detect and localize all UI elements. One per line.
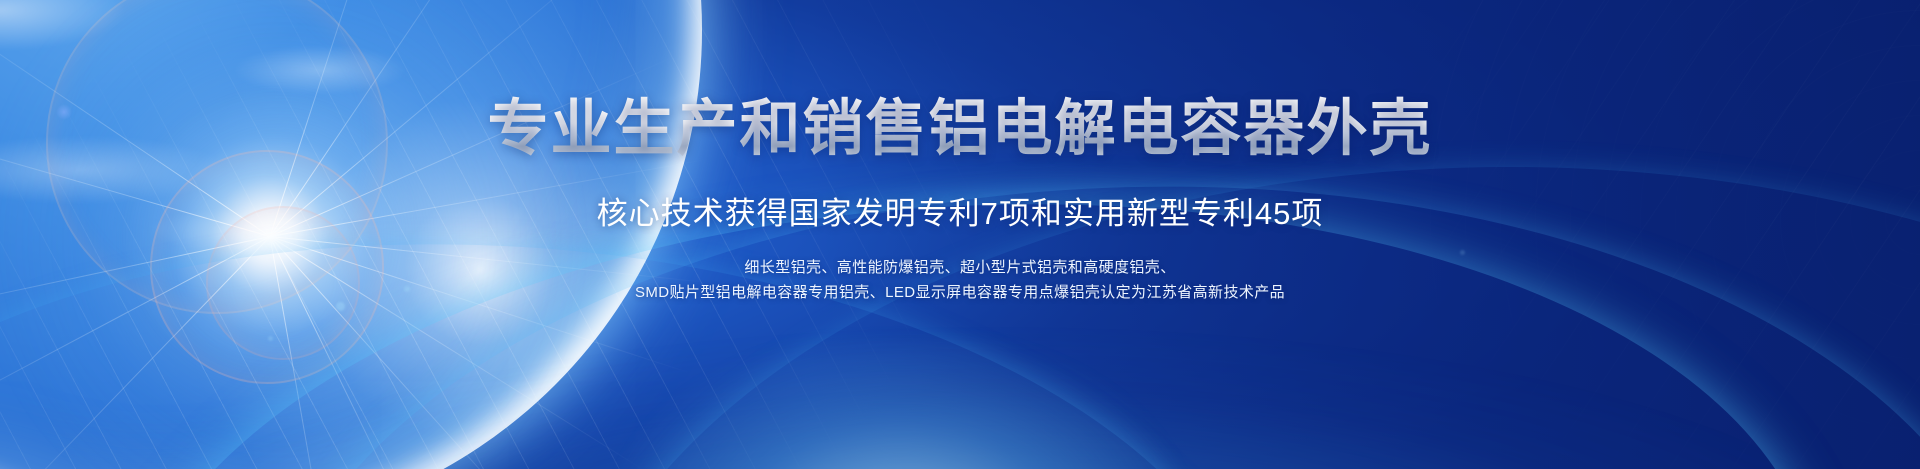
banner-description-line-1: 细长型铝壳、高性能防爆铝壳、超小型片式铝壳和高硬度铝壳、 — [0, 255, 1920, 280]
hero-banner: 专业生产和销售铝电解电容器外壳 核心技术获得国家发明专利7项和实用新型专利45项… — [0, 0, 1920, 469]
banner-subtitle: 核心技术获得国家发明专利7项和实用新型专利45项 — [0, 188, 1920, 233]
banner-text-content: 专业生产和销售铝电解电容器外壳 核心技术获得国家发明专利7项和实用新型专利45项… — [0, 96, 1920, 305]
banner-description: 细长型铝壳、高性能防爆铝壳、超小型片式铝壳和高硬度铝壳、 SMD贴片型铝电解电容… — [0, 255, 1920, 305]
bokeh-dot — [268, 336, 273, 341]
bottom-glow-highlight — [620, 339, 1180, 469]
banner-description-line-2: SMD贴片型铝电解电容器专用铝壳、LED显示屏电容器专用点爆铝壳认定为江苏省高新… — [0, 280, 1920, 305]
banner-title: 专业生产和销售铝电解电容器外壳 — [0, 96, 1920, 162]
